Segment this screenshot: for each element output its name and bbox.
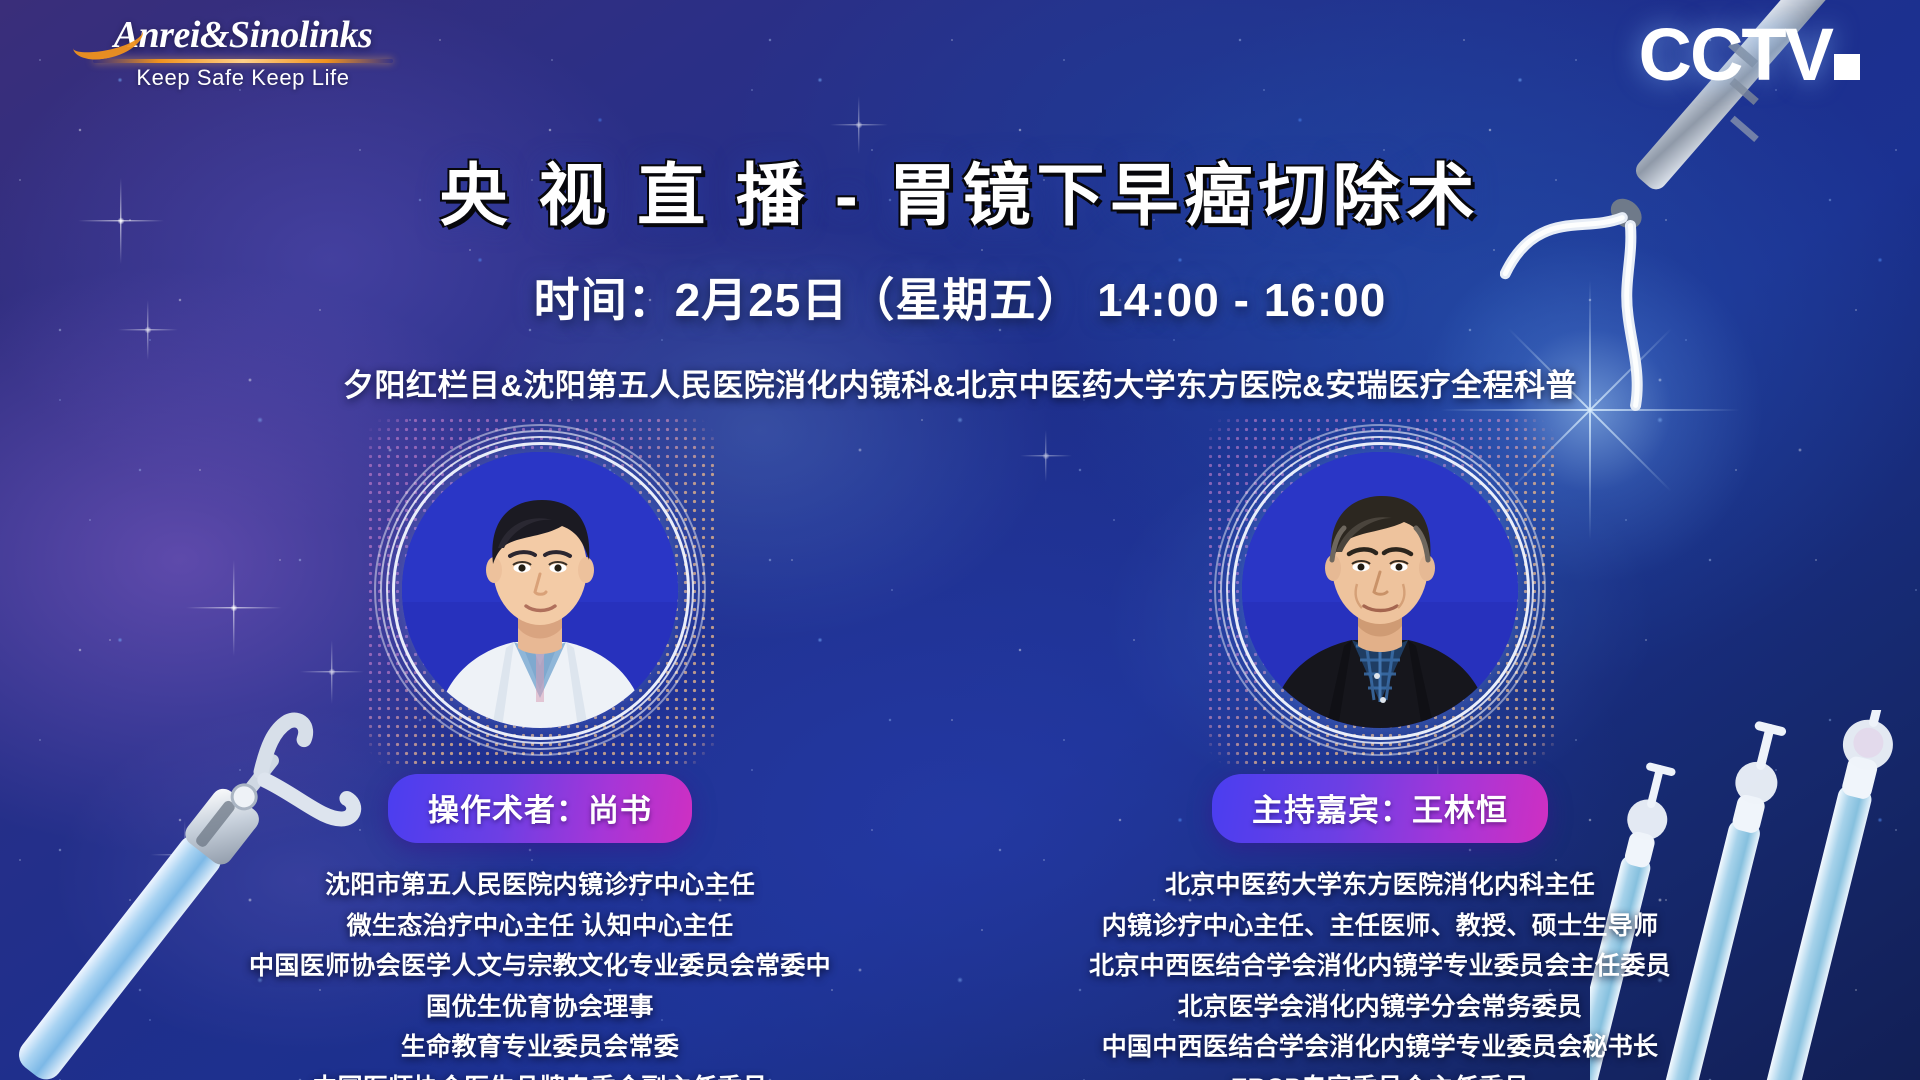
livestream-poster: Anrei&Sinolinks Keep Safe Keep Life CCTV… (0, 0, 1920, 1080)
status-badge: 操作术者：尚书 (388, 774, 692, 843)
list-item: 沈阳市第五人民医院内镜诊疗中心主任 (190, 865, 890, 906)
swoosh-icon (69, 15, 146, 64)
speaker-photo-right (1242, 452, 1518, 728)
avatar (1230, 440, 1530, 740)
list-item: 生命教育专业委员会常委 (190, 1027, 890, 1068)
speaker-photo-left (402, 452, 678, 728)
cctv-logo-dot-icon (1834, 54, 1860, 80)
brand-wordmark: Anrei&Sinolinks (114, 14, 373, 56)
brand-tagline: Keep Safe Keep Life (78, 65, 408, 91)
list-item: 中国医师协会医生品牌专委会副主任委员 (190, 1068, 890, 1080)
speaker-card-right: 主持嘉宾：王林恒 北京中医药大学东方医院消化内科主任 内镜诊疗中心主任、主任医师… (1030, 440, 1730, 1080)
list-item: 中国中西医结合学会消化内镜学专业委员会秘书长 (1030, 1027, 1730, 1068)
portrait-illustration (1242, 452, 1518, 728)
list-item: 内镜诊疗中心主任、主任医师、教授、硕士生导师 (1030, 906, 1730, 947)
cctv-logo: CCTV (1639, 18, 1860, 92)
status-badge: 主持嘉宾：王林恒 (1212, 774, 1548, 843)
cctv-logo-text: CCTV (1639, 13, 1832, 96)
page-title: 央 视 直 播 - 胃镜下早癌切除术 (0, 140, 1920, 239)
portrait-illustration (402, 452, 678, 728)
list-item: 中国医师协会医学人文与宗教文化专业委员会常委中 (190, 946, 890, 987)
event-time: 时间：2月25日（星期五） 14:00 - 16:00 (0, 264, 1920, 330)
list-item: ERCP专家委员会主任委员 (1030, 1068, 1730, 1080)
brand-divider (93, 59, 393, 63)
credentials-list-right: 北京中医药大学东方医院消化内科主任 内镜诊疗中心主任、主任医师、教授、硕士生导师… (1030, 865, 1730, 1080)
organizers-line: 夕阳红栏目&沈阳第五人民医院消化内镜科&北京中医药大学东方医院&安瑞医疗全程科普 (0, 360, 1920, 405)
list-item: 国优生优育协会理事 (190, 987, 890, 1028)
list-item: 微生态治疗中心主任 认知中心主任 (190, 906, 890, 947)
brand-wordmark-row: Anrei&Sinolinks (78, 16, 408, 56)
list-item: 北京中医药大学东方医院消化内科主任 (1030, 865, 1730, 906)
list-item: 北京医学会消化内镜学分会常务委员 (1030, 987, 1730, 1028)
speaker-card-left: 操作术者：尚书 沈阳市第五人民医院内镜诊疗中心主任 微生态治疗中心主任 认知中心… (190, 440, 890, 1080)
avatar (390, 440, 690, 740)
brand-logo: Anrei&Sinolinks Keep Safe Keep Life (78, 16, 408, 91)
credentials-list-left: 沈阳市第五人民医院内镜诊疗中心主任 微生态治疗中心主任 认知中心主任 中国医师协… (190, 865, 890, 1080)
list-item: 北京中西医结合学会消化内镜学专业委员会主任委员 (1030, 946, 1730, 987)
